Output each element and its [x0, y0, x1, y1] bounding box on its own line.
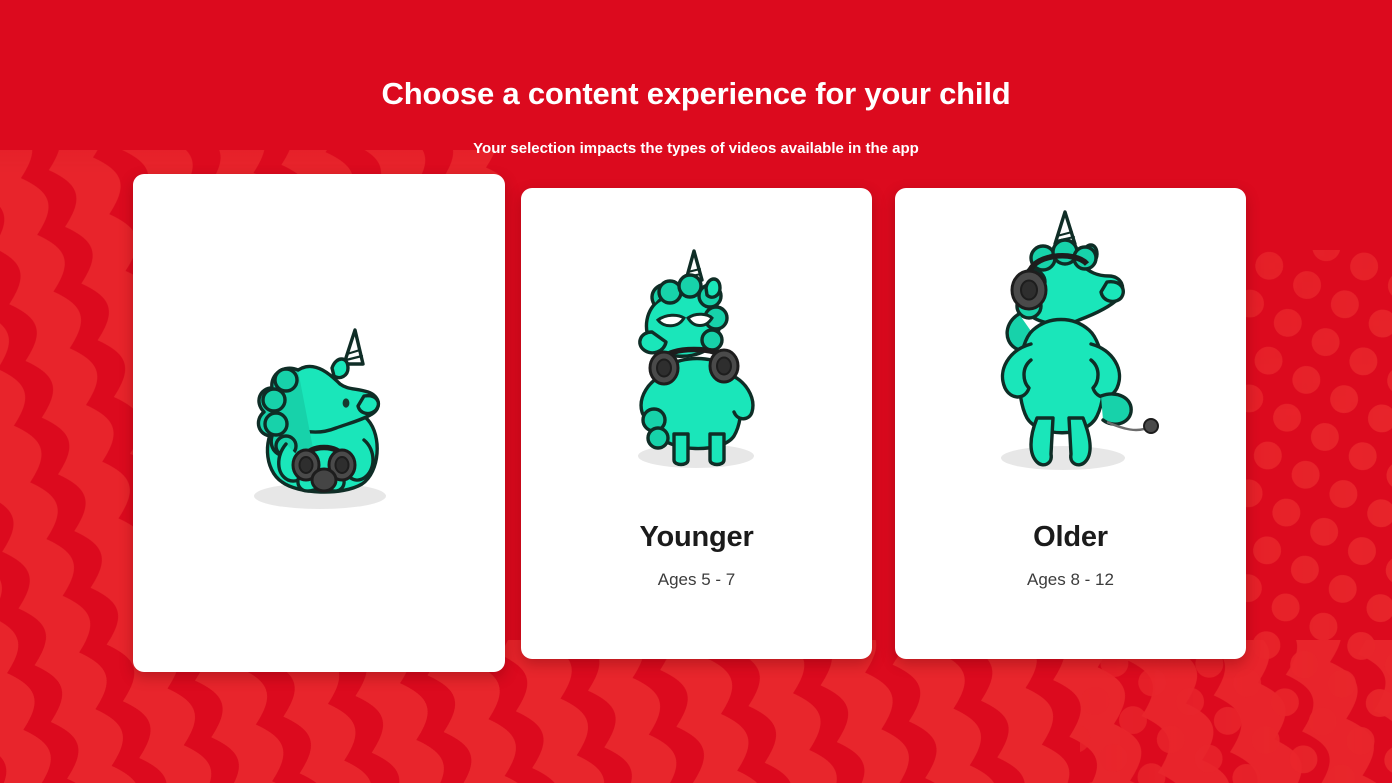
- page-subtitle: Your selection impacts the types of vide…: [0, 139, 1392, 159]
- card-title-older: Older: [895, 521, 1246, 554]
- card-subtitle-older: Ages 8 - 12: [895, 570, 1246, 590]
- card-subtitle-younger: Ages 5 - 7: [521, 570, 872, 590]
- preschool-illustration: [133, 324, 505, 514]
- older-illustration: [895, 210, 1246, 475]
- content-experience-card-preschool[interactable]: Preschool Ages 4 and under: [133, 174, 505, 672]
- younger-illustration: [521, 248, 872, 473]
- unicorn-standing-hands-on-hips-headphones-icon: [971, 210, 1171, 475]
- card-title-younger: Younger: [521, 521, 872, 554]
- unicorn-standing-headphones-around-neck-icon: [612, 248, 782, 473]
- page-title: Choose a content experience for your chi…: [0, 74, 1392, 114]
- content-experience-chooser: Choose a content experience for your chi…: [0, 0, 1392, 783]
- content-experience-card-younger[interactable]: Younger Ages 5 - 7: [521, 188, 872, 659]
- content-experience-card-older[interactable]: Older Ages 8 - 12: [895, 188, 1246, 659]
- unicorn-sitting-with-headphones-icon: [224, 324, 414, 514]
